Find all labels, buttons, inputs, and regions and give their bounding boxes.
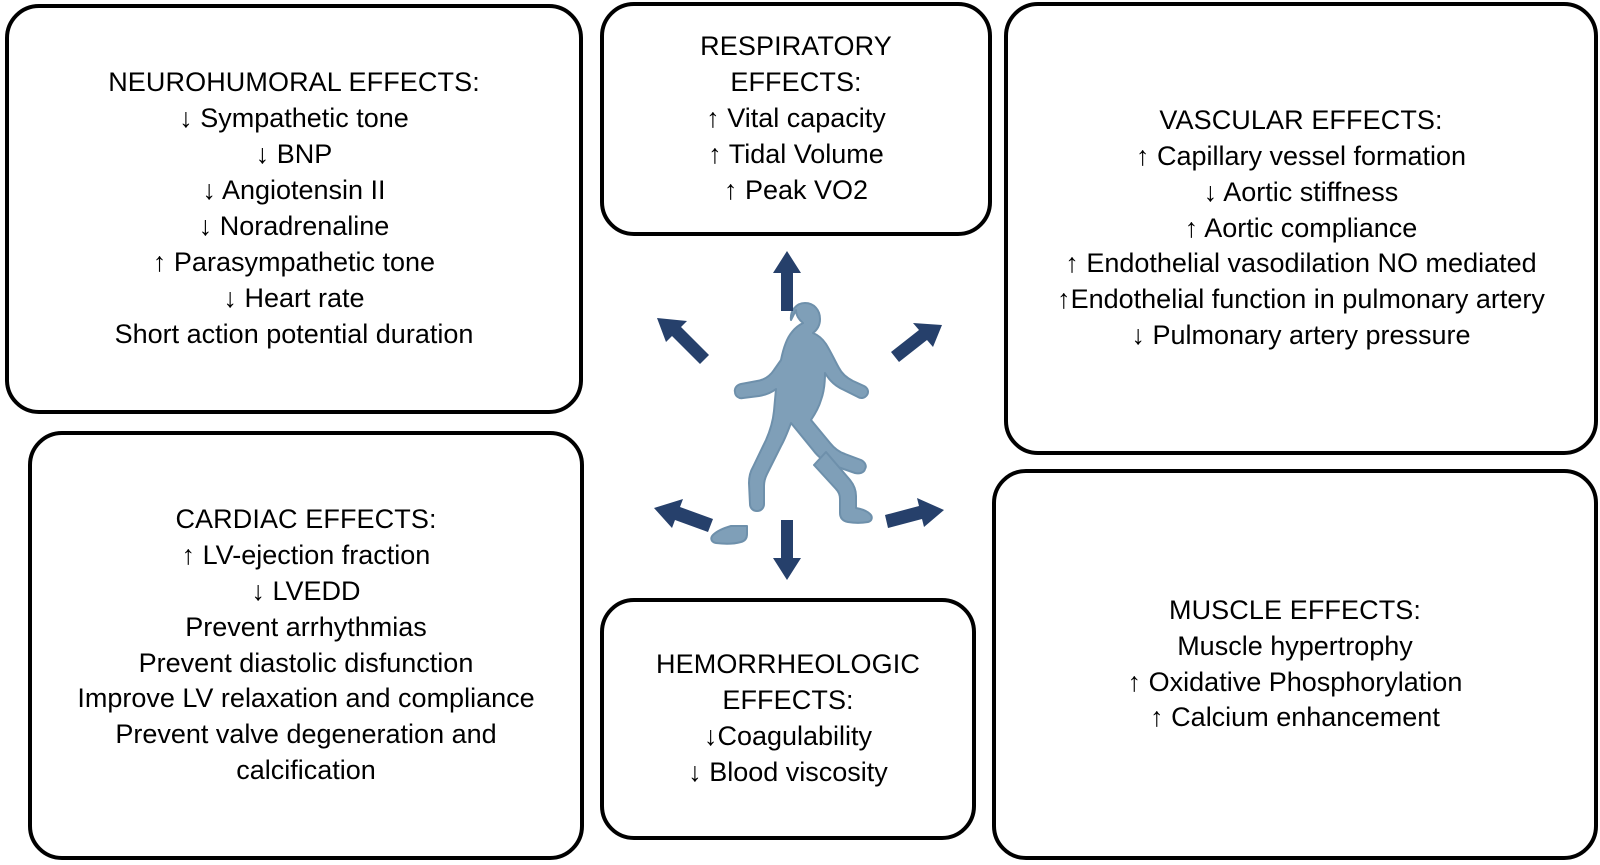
arrow-down-left-icon [654,499,713,532]
cardiac-line-4: Prevent diastolic disfunction [139,646,474,682]
neurohumoral-line-7: Short action potential duration [115,317,474,353]
cardiac-line-1: ↑ LV-ejection fraction [182,538,431,574]
box-title-vascular: VASCULAR EFFECTS: [1159,103,1442,139]
respiratory-line-3: ↑ Peak VO2 [724,173,868,209]
vascular-line-4: ↑ Endothelial vasodilation NO mediated [1065,246,1536,282]
hemorrheologic-line-2: ↓ Blood viscosity [688,755,888,791]
vascular-line-5: ↑Endothelial function in pulmonary arter… [1057,282,1545,318]
arrow-up-left-icon [657,318,709,364]
neurohumoral-line-6: ↓ Heart rate [223,281,364,317]
vascular-line-3: ↑ Aortic compliance [1185,211,1418,247]
box-muscle-effects: MUSCLE EFFECTS: Muscle hypertrophy ↑ Oxi… [992,469,1598,860]
muscle-line-1: Muscle hypertrophy [1177,629,1413,665]
box-title-cardiac: CARDIAC EFFECTS: [175,502,436,538]
arrow-down-right-icon [885,498,944,528]
respiratory-line-2: ↑ Tidal Volume [708,137,884,173]
cardiac-line-5: Improve LV relaxation and compliance [77,681,534,717]
neurohumoral-line-3: ↓ Angiotensin II [202,173,385,209]
arrow-up-icon [773,251,801,311]
muscle-line-2: ↑ Oxidative Phosphorylation [1128,665,1463,701]
box-respiratory-effects: RESPIRATORY EFFECTS: ↑ Vital capacity ↑ … [600,2,992,236]
neurohumoral-line-1: ↓ Sympathetic tone [179,101,409,137]
muscle-line-3: ↑ Calcium enhancement [1150,700,1440,736]
box-cardiac-effects: CARDIAC EFFECTS: ↑ LV-ejection fraction … [28,431,584,860]
box-title-respiratory: RESPIRATORY EFFECTS: [700,29,892,101]
hemorrheologic-line-1: ↓Coagulability [704,719,872,755]
box-title-muscle: MUSCLE EFFECTS: [1169,593,1421,629]
box-hemorrheologic-effects: HEMORRHEOLOGIC EFFECTS: ↓Coagulability ↓… [600,598,976,840]
vascular-line-6: ↓ Pulmonary artery pressure [1131,318,1470,354]
box-neurohumoral-effects: NEUROHUMORAL EFFECTS: ↓ Sympathetic tone… [5,4,583,414]
respiratory-line-1: ↑ Vital capacity [706,101,886,137]
cardiac-line-6: Prevent valve degeneration and calcifica… [46,717,566,789]
cardiac-line-2: ↓ LVEDD [251,574,360,610]
box-vascular-effects: VASCULAR EFFECTS: ↑ Capillary vessel for… [1004,2,1598,455]
neurohumoral-line-5: ↑ Parasympathetic tone [153,245,435,281]
cardiac-line-3: Prevent arrhythmias [185,610,427,646]
arrow-down-icon [773,520,801,580]
neurohumoral-line-4: ↓ Noradrenaline [199,209,390,245]
vascular-line-1: ↑ Capillary vessel formation [1136,139,1466,175]
vascular-line-2: ↓ Aortic stiffness [1204,175,1399,211]
center-graphic-group [620,248,965,583]
arrow-up-right-icon [891,323,942,362]
diagram-canvas: NEUROHUMORAL EFFECTS: ↓ Sympathetic tone… [0,0,1600,865]
neurohumoral-line-2: ↓ BNP [256,137,333,173]
box-title-neurohumoral: NEUROHUMORAL EFFECTS: [108,65,480,101]
box-title-hemorrheologic: HEMORRHEOLOGIC EFFECTS: [656,647,920,719]
running-person-icon [711,303,871,544]
